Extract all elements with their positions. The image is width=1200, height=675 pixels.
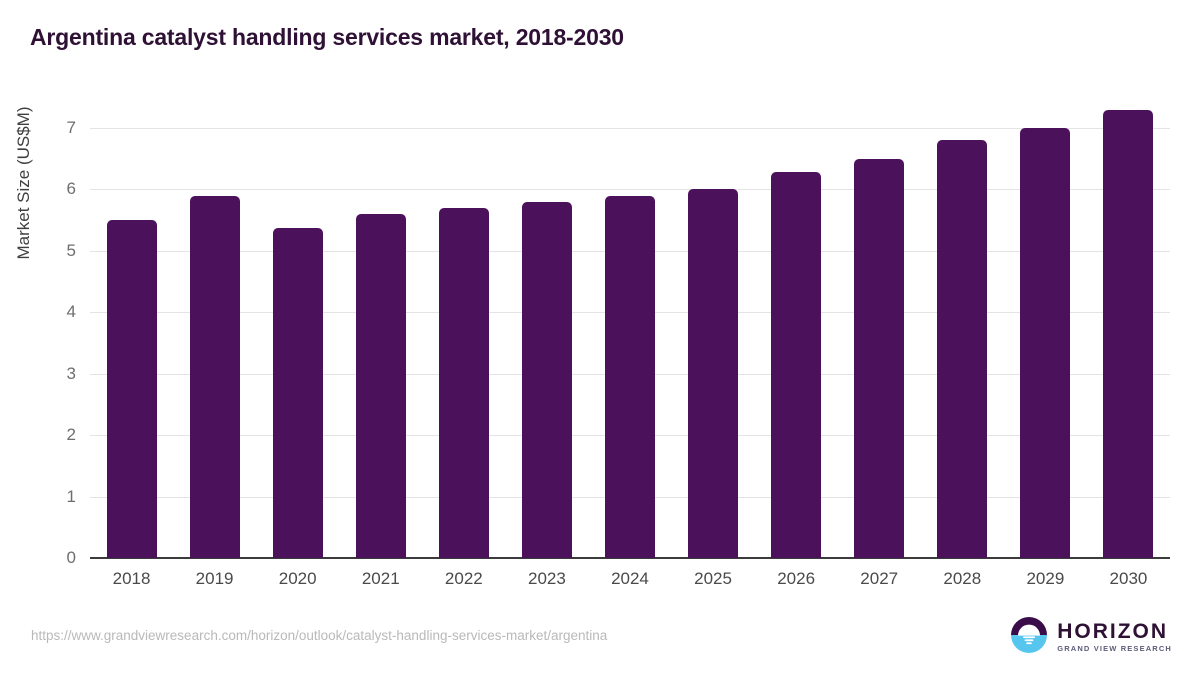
x-tick-label: 2023 [505,569,588,589]
y-tick-label: 3 [36,364,76,384]
x-tick-label: 2030 [1087,569,1170,589]
x-tick-label: 2019 [173,569,256,589]
x-tick-label: 2027 [838,569,921,589]
bars-layer: 2018201920202021202220232024202520262027… [90,0,1170,675]
bar[interactable] [1103,110,1153,558]
x-tick-label: 2018 [90,569,173,589]
logo-tagline: GRAND VIEW RESEARCH [1057,645,1172,653]
bar[interactable] [273,228,323,558]
bar[interactable] [1020,128,1070,558]
bar[interactable] [522,202,572,558]
y-tick-label: 1 [36,487,76,507]
x-tick-label: 2028 [921,569,1004,589]
y-tick-label: 7 [36,118,76,138]
logo-wordmark: HORIZON [1057,621,1172,642]
x-tick-label: 2022 [422,569,505,589]
x-tick-label: 2024 [588,569,671,589]
y-axis-title: Market Size (US$M) [14,3,34,363]
bar[interactable] [854,159,904,558]
bar[interactable] [605,196,655,558]
brand-logo: HORIZON GRAND VIEW RESEARCH [1010,617,1172,657]
bar[interactable] [439,208,489,558]
y-tick-label: 2 [36,425,76,445]
y-tick-label: 4 [36,302,76,322]
y-tick-label: 0 [36,548,76,568]
chart-page: Argentina catalyst handling services mar… [0,0,1200,675]
bar[interactable] [190,196,240,558]
x-tick-label: 2020 [256,569,339,589]
bar[interactable] [937,140,987,558]
horizon-sunset-circle-icon [1010,616,1048,659]
x-tick-label: 2025 [672,569,755,589]
bar[interactable] [771,172,821,558]
x-tick-label: 2021 [339,569,422,589]
x-tick-label: 2029 [1004,569,1087,589]
bar[interactable] [688,189,738,558]
y-tick-label: 6 [36,179,76,199]
x-tick-label: 2026 [755,569,838,589]
bar[interactable] [356,214,406,558]
source-url[interactable]: https://www.grandviewresearch.com/horizo… [31,628,607,643]
logo-text: HORIZON GRAND VIEW RESEARCH [1057,621,1172,653]
y-tick-label: 5 [36,241,76,261]
bar[interactable] [107,220,157,558]
